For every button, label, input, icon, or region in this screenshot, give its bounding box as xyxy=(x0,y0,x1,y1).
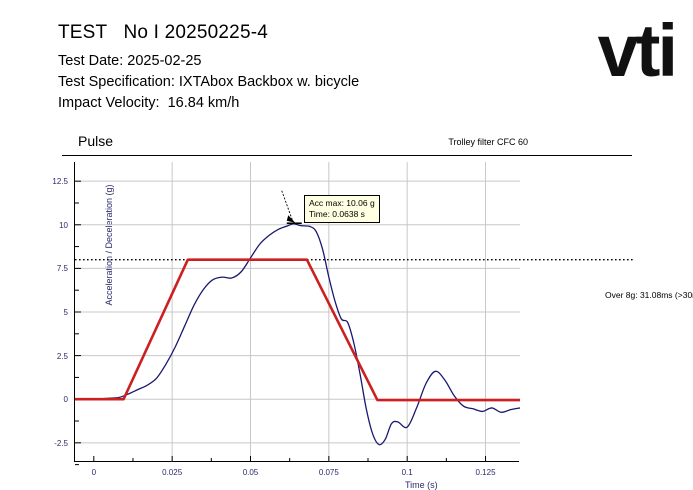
y-tick-label: 2.5 xyxy=(28,352,68,361)
grid-layer xyxy=(75,162,520,462)
y-tick-label: 7.5 xyxy=(28,264,68,273)
chart-title: Pulse xyxy=(78,133,113,149)
x-tick-label: 0.025 xyxy=(150,468,194,477)
x-tick-label: 0.05 xyxy=(228,468,272,477)
plot-area: Acceleration / Deceleration (g) Time (s)… xyxy=(74,162,519,462)
x-tick-label: 0 xyxy=(72,468,116,477)
y-tick-label: 10 xyxy=(28,221,68,230)
peak-marker xyxy=(282,191,302,224)
corridor-curve xyxy=(75,260,520,400)
title-divider xyxy=(62,155,632,156)
vti-logo: vti xyxy=(598,14,675,88)
over-threshold-note: Over 8g: 31.08ms (>30ms) xyxy=(605,290,693,300)
measured-curve xyxy=(75,224,520,445)
y-tick-label: 5 xyxy=(28,308,68,317)
tickmark-layer xyxy=(75,181,486,464)
report-header: TEST No I 20250225-4 Test Date: 2025-02-… xyxy=(58,22,528,114)
test-specification: Test Specification: IXTAbox Backbox w. b… xyxy=(58,72,528,93)
peak-callout-box: Acc max: 10.06 g Time: 0.0638 s xyxy=(304,195,380,223)
y-tick-label: 0 xyxy=(28,395,68,404)
pulse-chart: Pulse Trolley filter CFC 60 Acceleration… xyxy=(0,130,693,490)
peak-arrow-head xyxy=(287,215,296,223)
trolley-filter-note: Trolley filter CFC 60 xyxy=(448,137,528,147)
peak-leader-line xyxy=(282,191,293,220)
test-date: Test Date: 2025-02-25 xyxy=(58,51,528,72)
impact-velocity: Impact Velocity: 16.84 km/h xyxy=(58,93,528,114)
plot-svg xyxy=(75,162,520,462)
peak-time-text: Time: 0.0638 s xyxy=(309,209,375,220)
x-tick-label: 0.075 xyxy=(307,468,351,477)
series-layer xyxy=(75,224,520,445)
x-axis-title: Time (s) xyxy=(405,480,438,490)
x-tick-label: 0.125 xyxy=(464,468,508,477)
y-tick-label: -2.5 xyxy=(28,439,68,448)
x-tick-label: 0.1 xyxy=(385,468,429,477)
y-tick-label: 12.5 xyxy=(28,177,68,186)
page-title: TEST No I 20250225-4 xyxy=(58,22,528,44)
peak-acc-text: Acc max: 10.06 g xyxy=(309,198,375,209)
